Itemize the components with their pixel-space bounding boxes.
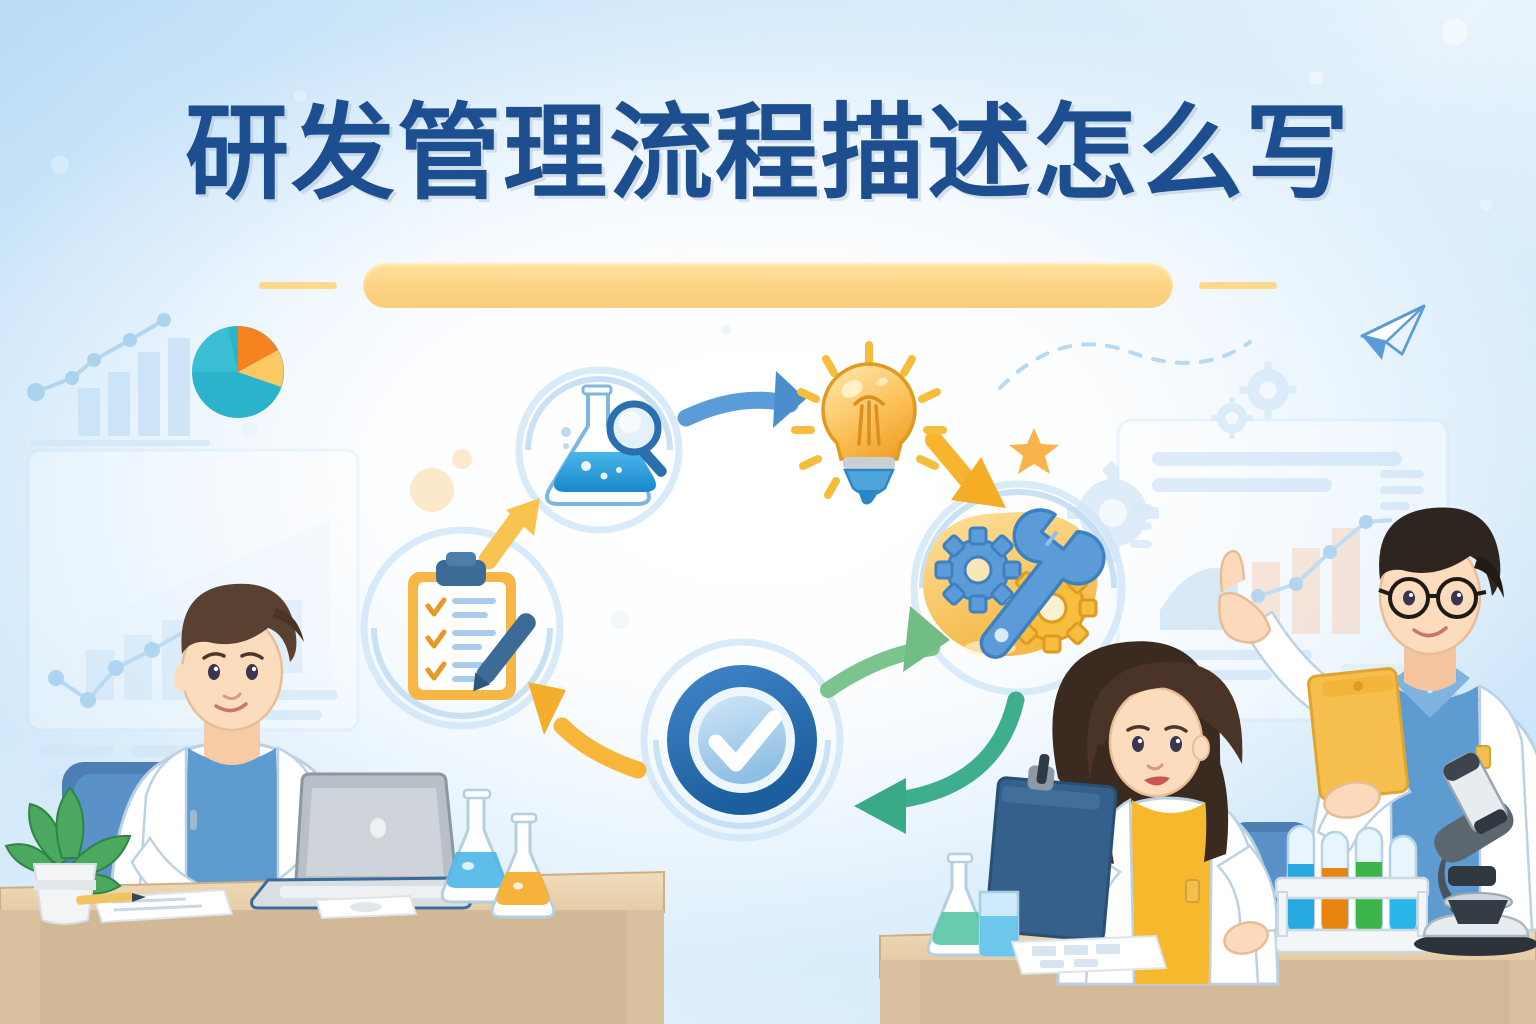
poster-canvas: 研发管理流程描述怎么写 — [0, 0, 1536, 1024]
right-scene — [0, 0, 1536, 1024]
beaker-right — [980, 892, 1018, 956]
desk-papers-right — [1012, 936, 1166, 974]
yellow-clipboard — [1308, 668, 1408, 801]
